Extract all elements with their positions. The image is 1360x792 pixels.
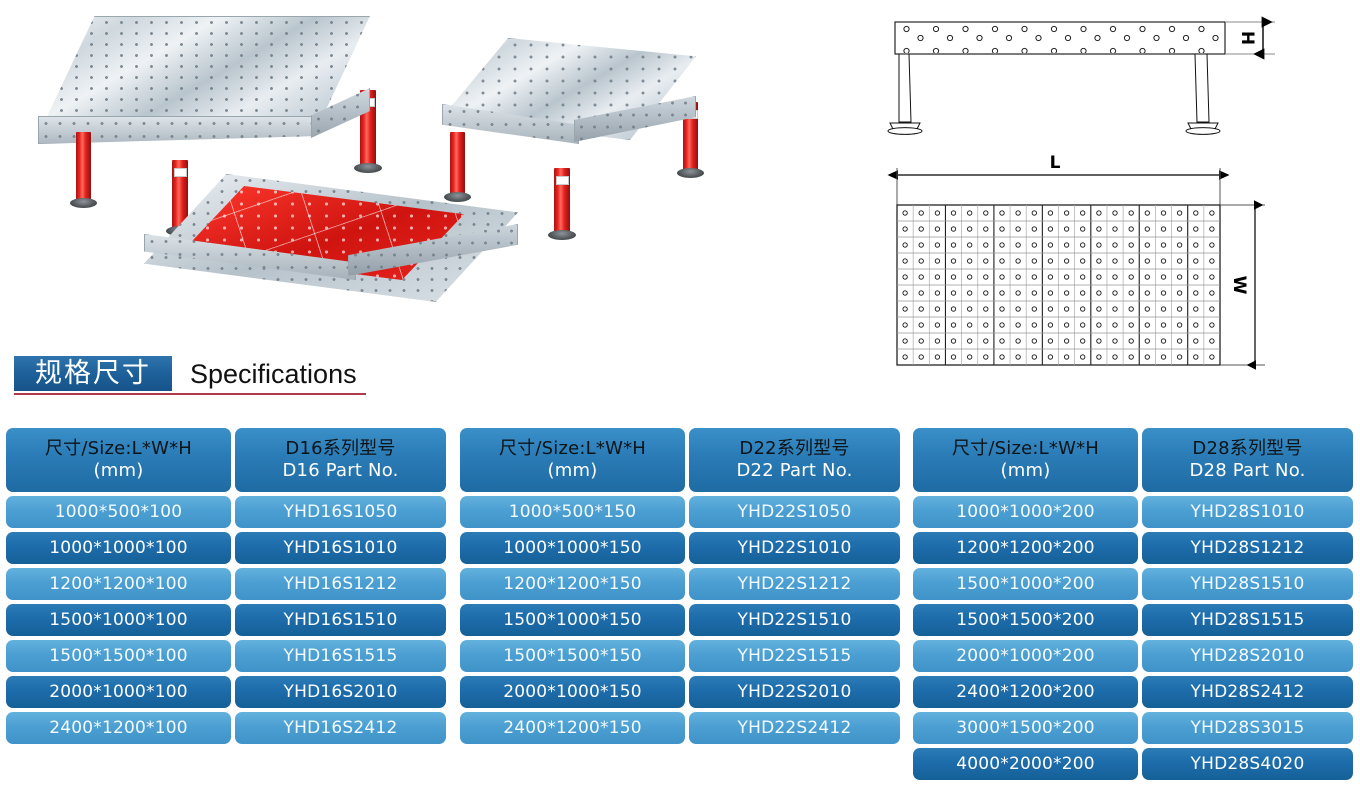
cell-size: 2000*1000*150 xyxy=(460,676,685,708)
table-row: 2400*1200*150YHD22S2412 xyxy=(460,712,900,744)
cell-part-no: YHD28S2412 xyxy=(1142,676,1353,708)
header-part-cn: D28系列型号 xyxy=(1192,438,1302,460)
spec-table-d28: 尺寸/Size:L*W*H(mm)D28系列型号D28 Part No.1000… xyxy=(913,428,1353,784)
header-size-cn: 尺寸/Size:L*W*H xyxy=(45,438,192,460)
header-part-cn: D22系列型号 xyxy=(739,438,849,460)
header-cell-part-no: D28系列型号D28 Part No. xyxy=(1142,428,1353,492)
table-row: 2400*1200*100YHD16S2412 xyxy=(6,712,446,744)
cell-size: 2400*1200*150 xyxy=(460,712,685,744)
header-cell-size: 尺寸/Size:L*W*H(mm) xyxy=(913,428,1138,492)
cell-part-no: YHD22S1212 xyxy=(689,568,900,600)
cell-size: 1200*1200*200 xyxy=(913,532,1138,564)
header-cell-size: 尺寸/Size:L*W*H(mm) xyxy=(460,428,685,492)
leg-label xyxy=(556,176,569,185)
header-size-unit: (mm) xyxy=(1001,460,1051,482)
table-foot xyxy=(548,230,576,240)
cell-part-no: YHD22S2010 xyxy=(689,676,900,708)
specifications-heading: 规格尺寸 Specifications xyxy=(14,356,1346,402)
header-part-en: D28 Part No. xyxy=(1189,460,1305,482)
cell-part-no: YHD16S2010 xyxy=(235,676,446,708)
table-foot xyxy=(677,168,704,178)
header-cell-size: 尺寸/Size:L*W*H(mm) xyxy=(6,428,231,492)
table-row: 1000*1000*200YHD28S1010 xyxy=(913,496,1353,528)
table-row: 1200*1200*200YHD28S1212 xyxy=(913,532,1353,564)
dimension-label-h: H xyxy=(1237,31,1257,45)
header-size-unit: (mm) xyxy=(548,460,598,482)
cell-size: 1500*1000*100 xyxy=(6,604,231,636)
dimension-label-w: W xyxy=(1229,276,1249,295)
cell-part-no: YHD28S2010 xyxy=(1142,640,1353,672)
cell-part-no: YHD16S1010 xyxy=(235,532,446,564)
table-row: 3000*1500*200YHD28S3015 xyxy=(913,712,1353,744)
cell-size: 1500*1000*200 xyxy=(913,568,1138,600)
table-row: 4000*2000*200YHD28S4020 xyxy=(913,748,1353,780)
cell-size: 1200*1200*150 xyxy=(460,568,685,600)
table-foot xyxy=(70,198,97,208)
table-row: 1500*1500*200YHD28S1515 xyxy=(913,604,1353,636)
table-row: 1200*1200*100YHD16S1212 xyxy=(6,568,446,600)
spec-badge-cn: 规格尺寸 xyxy=(14,356,172,391)
cell-part-no: YHD22S1515 xyxy=(689,640,900,672)
table-row: 2400*1200*200YHD28S2412 xyxy=(913,676,1353,708)
table-header-row: 尺寸/Size:L*W*H(mm)D16系列型号D16 Part No. xyxy=(6,428,446,492)
spec-table-d22: 尺寸/Size:L*W*H(mm)D22系列型号D22 Part No.1000… xyxy=(460,428,900,748)
cell-part-no: YHD28S1010 xyxy=(1142,496,1353,528)
table-row: 1500*1500*100YHD16S1515 xyxy=(6,640,446,672)
cell-size: 1000*1000*200 xyxy=(913,496,1138,528)
table-row: 1000*500*100YHD16S1050 xyxy=(6,496,446,528)
cell-part-no: YHD16S1050 xyxy=(235,496,446,528)
header-part-en: D22 Part No. xyxy=(736,460,852,482)
table-row: 2000*1000*150YHD22S2010 xyxy=(460,676,900,708)
cell-part-no: YHD28S4020 xyxy=(1142,748,1353,780)
cell-size: 1500*1500*200 xyxy=(913,604,1138,636)
cell-size: 3000*1500*200 xyxy=(913,712,1138,744)
cell-part-no: YHD22S1510 xyxy=(689,604,900,636)
table-row: 1500*1000*150YHD22S1510 xyxy=(460,604,900,636)
cell-size: 2400*1200*100 xyxy=(6,712,231,744)
table-row: 1000*1000*150YHD22S1010 xyxy=(460,532,900,564)
table-row: 1000*1000*100YHD16S1010 xyxy=(6,532,446,564)
cell-part-no: YHD16S1212 xyxy=(235,568,446,600)
table-row: 1200*1200*150YHD22S1212 xyxy=(460,568,900,600)
spec-table-d16: 尺寸/Size:L*W*H(mm)D16系列型号D16 Part No.1000… xyxy=(6,428,446,748)
spec-title-en: Specifications xyxy=(190,356,357,391)
cell-part-no: YHD28S1212 xyxy=(1142,532,1353,564)
header-size-cn: 尺寸/Size:L*W*H xyxy=(952,438,1099,460)
cell-size: 2000*1000*200 xyxy=(913,640,1138,672)
table-row: 1500*1500*150YHD22S1515 xyxy=(460,640,900,672)
table-row: 2000*1000*100YHD16S2010 xyxy=(6,676,446,708)
cell-size: 1200*1200*100 xyxy=(6,568,231,600)
cell-size: 1000*500*100 xyxy=(6,496,231,528)
cell-part-no: YHD28S1510 xyxy=(1142,568,1353,600)
cell-part-no: YHD28S3015 xyxy=(1142,712,1353,744)
cell-size: 1500*1500*100 xyxy=(6,640,231,672)
cell-part-no: YHD22S1050 xyxy=(689,496,900,528)
cell-part-no: YHD22S2412 xyxy=(689,712,900,744)
cell-size: 1500*1500*150 xyxy=(460,640,685,672)
table-row: 1000*500*150YHD22S1050 xyxy=(460,496,900,528)
cell-part-no: YHD16S1510 xyxy=(235,604,446,636)
welding-table-cutaway-render xyxy=(140,172,530,312)
header-size-cn: 尺寸/Size:L*W*H xyxy=(499,438,646,460)
cell-part-no: YHD16S2412 xyxy=(235,712,446,744)
header-part-en: D16 Part No. xyxy=(282,460,398,482)
plan-view: L xyxy=(897,153,1265,365)
header-size-unit: (mm) xyxy=(94,460,144,482)
cell-size: 1500*1000*150 xyxy=(460,604,685,636)
cell-size: 1000*1000*100 xyxy=(6,532,231,564)
table-header-row: 尺寸/Size:L*W*H(mm)D22系列型号D22 Part No. xyxy=(460,428,900,492)
table-row: 1500*1000*200YHD28S1510 xyxy=(913,568,1353,600)
side-elevation: H xyxy=(888,22,1275,134)
cell-size: 2400*1200*200 xyxy=(913,676,1138,708)
table-header-row: 尺寸/Size:L*W*H(mm)D28系列型号D28 Part No. xyxy=(913,428,1353,492)
cell-part-no: YHD16S1515 xyxy=(235,640,446,672)
title-underline xyxy=(14,393,366,395)
cell-size: 1000*500*150 xyxy=(460,496,685,528)
cell-size: 4000*2000*200 xyxy=(913,748,1138,780)
cell-size: 1000*1000*150 xyxy=(460,532,685,564)
table-row: 1500*1000*100YHD16S1510 xyxy=(6,604,446,636)
dimension-label-l: L xyxy=(1050,153,1061,173)
technical-drawing: H L xyxy=(870,0,1360,400)
header-cell-part-no: D16系列型号D16 Part No. xyxy=(235,428,446,492)
cell-size: 2000*1000*100 xyxy=(6,676,231,708)
header-cell-part-no: D22系列型号D22 Part No. xyxy=(689,428,900,492)
cell-part-no: YHD22S1010 xyxy=(689,532,900,564)
table-leg xyxy=(76,132,91,204)
cell-part-no: YHD28S1515 xyxy=(1142,604,1353,636)
table-row: 2000*1000*200YHD28S2010 xyxy=(913,640,1353,672)
header-part-cn: D16系列型号 xyxy=(285,438,395,460)
